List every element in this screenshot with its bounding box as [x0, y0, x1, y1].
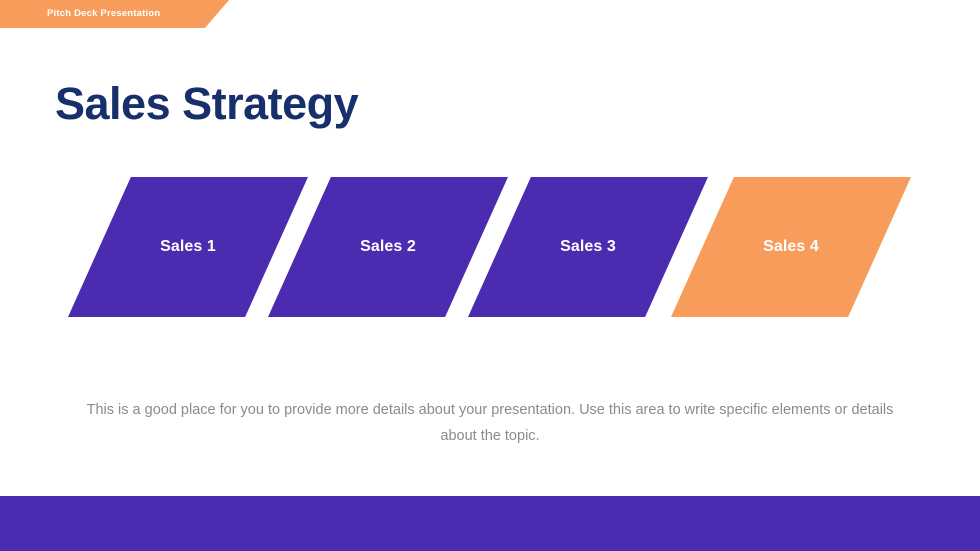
sales-step-2-label: Sales 2: [360, 238, 416, 256]
sales-step-4-label: Sales 4: [763, 238, 819, 256]
sales-step-1[interactable]: Sales 1: [68, 177, 308, 317]
footer-bar: [0, 496, 980, 551]
sales-step-3[interactable]: Sales 3: [468, 177, 708, 317]
page-title: Sales Strategy: [55, 79, 358, 129]
sales-step-4[interactable]: Sales 4: [671, 177, 911, 317]
sales-step-3-label: Sales 3: [560, 238, 616, 256]
slide-description: This is a good place for you to provide …: [70, 397, 910, 449]
sales-steps-row: Sales 1 Sales 2 Sales 3 Sales 4: [0, 177, 980, 317]
ribbon-label: Pitch Deck Presentation: [47, 0, 160, 28]
sales-step-1-label: Sales 1: [160, 238, 216, 256]
sales-step-2[interactable]: Sales 2: [268, 177, 508, 317]
presentation-slide: Pitch Deck Presentation Sales Strategy S…: [0, 0, 980, 551]
